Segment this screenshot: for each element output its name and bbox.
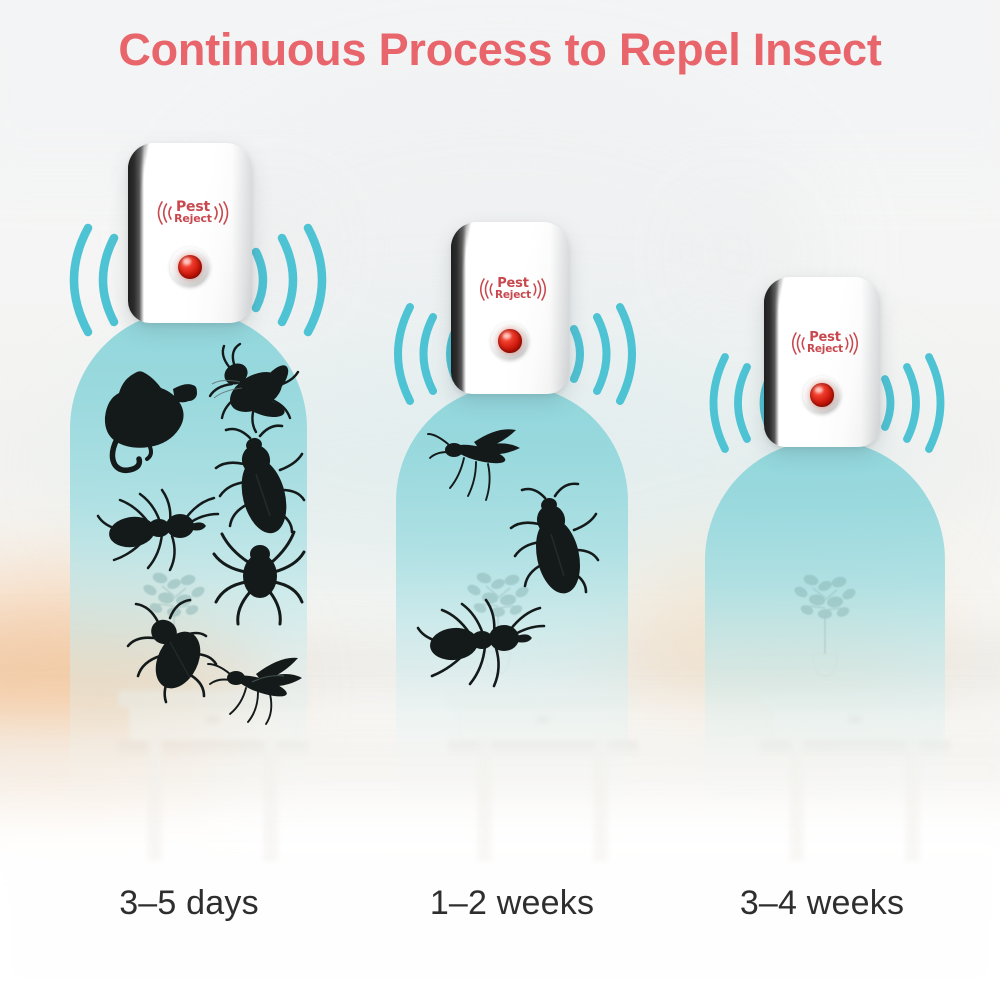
logo-wave-right-icon: [844, 331, 860, 356]
logo-word-reject: Reject: [495, 290, 531, 300]
logo-word-reject: Reject: [807, 344, 843, 354]
stage-1-sound-waves-right: [248, 222, 328, 338]
logo-word-reject: Reject: [174, 214, 212, 225]
pest-mouse: [95, 355, 207, 473]
device-gloss-highlight: [145, 147, 222, 201]
device-side-edge: [451, 222, 466, 394]
stage-3-led-indicator: [803, 376, 841, 414]
logo-wave-left-icon: [478, 277, 494, 302]
device-gloss-highlight: [468, 225, 541, 277]
stage-1-repeller-device[interactable]: Pest Reject: [128, 143, 252, 323]
logo-wave-right-icon: [213, 200, 230, 226]
stage-3-repeller-device[interactable]: Pest Reject: [764, 277, 880, 447]
device-gloss-highlight: [780, 280, 852, 331]
pest-mosquito: [206, 648, 310, 724]
pest-reject-logo: Pest Reject: [785, 326, 865, 360]
stage-1-column: Pest Reject 3–5 days: [0, 0, 370, 1000]
stage-2-caption: 1–2 weeks: [365, 884, 659, 923]
device-side-edge: [764, 277, 779, 447]
stage-2-repeller-device[interactable]: Pest Reject: [451, 222, 569, 394]
device-side-edge: [128, 143, 144, 323]
pest-fly: [200, 338, 308, 438]
pest-reject-logo: Pest Reject: [472, 272, 554, 306]
infographic-canvas: Continuous Process to Repel Insect: [0, 0, 1000, 1000]
background-plant: [779, 550, 871, 680]
stage-1-caption: 3–5 days: [42, 884, 336, 923]
stage-2-led-indicator: [491, 322, 529, 360]
logo-wave-left-icon: [790, 331, 806, 356]
pest-reject-logo: Pest Reject: [150, 195, 236, 231]
stage-3-sound-waves-right: [877, 352, 947, 454]
stage-2-sound-waves-right: [566, 302, 638, 406]
pest-ant: [416, 588, 554, 692]
pest-ant: [96, 480, 226, 576]
stage-3-caption: 3–4 weeks: [675, 884, 969, 923]
stage-1-led-indicator: [170, 247, 210, 287]
stage-2-column: Pest Reject 1–2 weeks: [330, 0, 670, 1000]
logo-wave-left-icon: [156, 200, 173, 226]
logo-wave-right-icon: [532, 277, 548, 302]
stage-3-column: Pest Reject 3–4 weeks: [645, 0, 1000, 1000]
